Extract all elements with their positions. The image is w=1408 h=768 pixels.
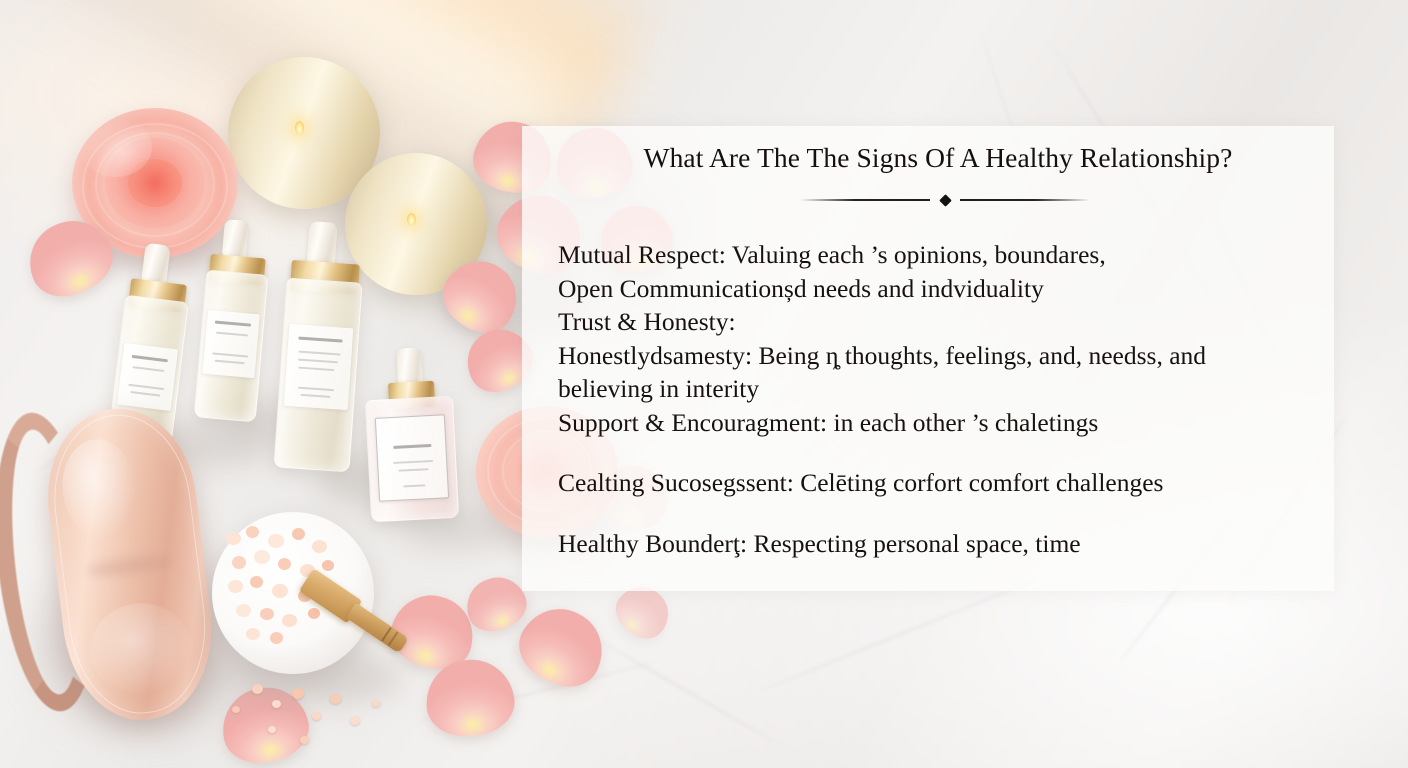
body-text-block: Mutual Respect: Valuing each ’s opinions…: [558, 238, 1328, 560]
body-line: Support & Encouragment: in each other ’s…: [558, 406, 1328, 440]
bottle-label: [117, 343, 178, 411]
body-line: Open Communicationșd needs and indvidual…: [558, 272, 1328, 306]
divider-line-left: [800, 199, 930, 201]
page-title: What Are The The Signs Of A Healthy Rela…: [568, 142, 1308, 174]
bottle-label: [202, 310, 259, 378]
body-line: Honestlydsamesty: Being ȵ thoughts, feel…: [558, 339, 1328, 373]
serum-bottle-2: [194, 270, 269, 423]
diamond-divider-icon: [800, 192, 1090, 208]
body-line: Trust & Honesty:: [558, 305, 1328, 339]
body-line: Mutual Respect: Valuing each ’s opinions…: [558, 238, 1328, 272]
divider-diamond: [939, 194, 952, 207]
body-line: believing in interity: [558, 372, 1328, 406]
text-overlay-panel: What Are The The Signs Of A Healthy Rela…: [522, 126, 1334, 591]
candle-flame: [295, 121, 304, 135]
body-line: Cealting Sucosegssent: Celēting corfort …: [558, 466, 1328, 500]
serum-bottle-4: [365, 396, 459, 522]
body-line: Healthy Bounderţ: Respecting personal s…: [558, 527, 1328, 561]
divider-line-right: [960, 199, 1090, 201]
salt-bowl: [212, 512, 374, 674]
rose-petal-edge: [95, 132, 215, 237]
bottle-label: [375, 414, 449, 502]
candle-flame: [407, 213, 416, 226]
bottle-label: [284, 324, 354, 410]
eye-mask: [14, 402, 214, 732]
serum-bottle-3: [273, 278, 362, 473]
